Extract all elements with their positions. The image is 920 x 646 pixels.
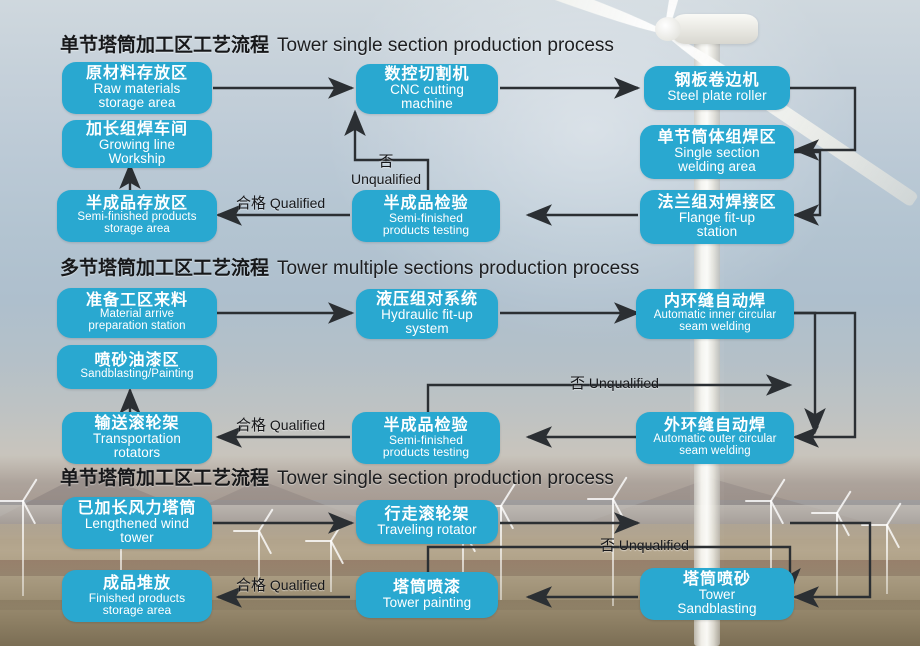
edge-label-zh: 合格 <box>236 417 266 434</box>
node-en-line2: Sandblasting <box>677 602 756 616</box>
edge-label-zh: 合格 <box>236 577 266 594</box>
node-lengthened-wind-tower[interactable]: 已加长风力塔筒 Lengthened wind tower <box>62 497 212 549</box>
edge-label-en: Unqualified <box>341 171 431 187</box>
node-flange-fit-up-station[interactable]: 法兰组对焊接区 Flange fit-up station <box>640 190 794 244</box>
edge-label-unqualified-1: 否 Unqualified <box>341 150 431 187</box>
edge-label-zh: 合格 <box>236 195 266 212</box>
edge-label-en: Qualified <box>270 417 325 433</box>
section-title-3-zh: 单节塔筒加工区工艺流程 <box>60 468 269 489</box>
node-en-line2: machine <box>401 97 453 111</box>
node-tower-painting[interactable]: 塔筒喷漆 Tower painting <box>356 572 498 618</box>
node-zh: 半成品检验 <box>383 196 468 212</box>
node-en-line2: rotators <box>114 446 161 460</box>
node-en-line2: storage area <box>103 604 172 616</box>
node-zh: 准备工区来料 <box>86 293 188 309</box>
node-traveling-rotator[interactable]: 行走滚轮架 Traveling rotator <box>356 500 498 544</box>
node-en-line1: Traveling rotator <box>377 523 477 537</box>
node-transportation-rotators[interactable]: 输送滚轮架 Transportation rotators <box>62 412 212 464</box>
node-en-line1: Growing line <box>99 138 175 152</box>
edge-label-zh: 否 <box>341 150 431 171</box>
node-en-line1: Single section <box>674 146 759 160</box>
node-en-line1: CNC cutting <box>390 83 464 97</box>
node-tower-sandblasting[interactable]: 塔筒喷砂 Tower Sandblasting <box>640 568 794 620</box>
node-en-line2: Workship <box>109 152 166 166</box>
node-zh: 行走滚轮架 <box>384 507 469 523</box>
node-zh: 单节筒体组焊区 <box>657 130 776 146</box>
node-cnc-cutting-machine[interactable]: 数控切割机 CNC cutting machine <box>356 64 498 114</box>
node-en-line1: Transportation <box>93 432 181 446</box>
node-en-line2: welding area <box>678 160 756 174</box>
node-zh: 成品堆放 <box>103 576 171 592</box>
node-en-line1: Tower painting <box>383 596 471 610</box>
node-en-line2: seam welding <box>679 322 751 334</box>
node-en-line1: Sandblasting/Painting <box>80 369 193 381</box>
node-growing-line-workship[interactable]: 加长组焊车间 Growing line Workship <box>62 120 212 168</box>
node-zh: 半成品存放区 <box>86 196 188 212</box>
flow-content: 单节塔筒加工区工艺流程Tower single section producti… <box>0 0 920 646</box>
node-single-section-welding-area[interactable]: 单节筒体组焊区 Single section welding area <box>640 125 794 179</box>
node-automatic-outer-circular-seam-welding[interactable]: 外环缝自动焊 Automatic outer circular seam wel… <box>636 412 794 464</box>
node-hydraulic-fit-up-system[interactable]: 液压组对系统 Hydraulic fit-up system <box>356 289 498 339</box>
edge-label-zh: 否 <box>600 537 615 554</box>
node-zh: 液压组对系统 <box>376 292 478 308</box>
section-title-3-en: Tower single section production process <box>277 468 614 489</box>
edge-label-en: Qualified <box>270 195 325 211</box>
node-zh: 加长组焊车间 <box>86 122 188 138</box>
node-en-line2: tower <box>120 531 154 545</box>
node-en-line2: storage area <box>104 224 170 236</box>
node-steel-plate-roller[interactable]: 钢板卷边机 Steel plate roller <box>644 66 790 110</box>
node-zh: 塔筒喷漆 <box>393 580 461 596</box>
node-zh: 输送滚轮架 <box>94 416 179 432</box>
node-en-line1: Hydraulic fit-up <box>381 308 473 322</box>
section-title-2-zh: 多节塔筒加工区工艺流程 <box>60 258 269 279</box>
node-finished-products-storage-area[interactable]: 成品堆放 Finished products storage area <box>62 570 212 622</box>
node-semi-finished-products-testing[interactable]: 半成品检验 Semi-finished products testing <box>352 190 500 242</box>
node-en-line2: seam welding <box>679 446 751 458</box>
node-en-line1: Flange fit-up <box>679 211 755 225</box>
node-en-line2: products testing <box>383 224 469 236</box>
node-en-line2: products testing <box>383 446 469 458</box>
node-automatic-inner-circular-seam-welding[interactable]: 内环缝自动焊 Automatic inner circular seam wel… <box>636 289 794 339</box>
node-en-line1: Lengthened wind <box>85 517 189 531</box>
section-title-2: 多节塔筒加工区工艺流程Tower multiple sections produ… <box>60 253 639 280</box>
node-zh: 塔筒喷砂 <box>683 572 751 588</box>
edge-label-en: Unqualified <box>589 375 659 391</box>
node-zh: 法兰组对焊接区 <box>657 195 776 211</box>
node-sandblasting-painting[interactable]: 喷砂油漆区 Sandblasting/Painting <box>57 345 217 389</box>
node-semi-finished-products-storage-area[interactable]: 半成品存放区 Semi-finished products storage ar… <box>57 190 217 242</box>
section-title-3: 单节塔筒加工区工艺流程Tower single section producti… <box>60 463 614 490</box>
node-en-line2: storage area <box>99 96 176 110</box>
edge-label-en: Unqualified <box>619 537 689 553</box>
section-title-1-en: Tower single section production process <box>277 35 614 56</box>
node-en-line2: preparation station <box>88 321 185 333</box>
node-en-line1: Tower <box>699 588 736 602</box>
node-en-line1: Steel plate roller <box>667 89 766 103</box>
edge-label-qualified-2: 合格 Qualified <box>236 414 325 435</box>
node-en-line2: system <box>405 322 448 336</box>
section-title-2-en: Tower multiple sections production proce… <box>277 258 639 279</box>
edge-label-qualified-3: 合格 Qualified <box>236 574 325 595</box>
node-zh: 喷砂油漆区 <box>94 353 179 369</box>
edge-label-unqualified-2: 否 Unqualified <box>570 372 659 393</box>
section-title-1-zh: 单节塔筒加工区工艺流程 <box>60 35 269 56</box>
node-en-line2: station <box>697 225 737 239</box>
process-flow-poster: 单节塔筒加工区工艺流程Tower single section producti… <box>0 0 920 646</box>
node-zh: 钢板卷边机 <box>674 73 759 89</box>
edge-label-qualified-1: 合格 Qualified <box>236 192 325 213</box>
edge-label-zh: 否 <box>570 375 585 392</box>
node-raw-materials-storage-area[interactable]: 原材料存放区 Raw materials storage area <box>62 62 212 114</box>
node-zh: 半成品检验 <box>383 418 468 434</box>
node-zh: 外环缝自动焊 <box>664 418 766 434</box>
node-zh: 已加长风力塔筒 <box>77 501 196 517</box>
edge-label-unqualified-3: 否 Unqualified <box>600 534 689 555</box>
edge-label-en: Qualified <box>270 577 325 593</box>
node-zh: 内环缝自动焊 <box>664 294 766 310</box>
node-semi-finished-products-testing-2[interactable]: 半成品检验 Semi-finished products testing <box>352 412 500 464</box>
node-en-line1: Raw materials <box>94 82 181 96</box>
node-zh: 数控切割机 <box>384 67 469 83</box>
node-zh: 原材料存放区 <box>86 66 188 82</box>
section-title-1: 单节塔筒加工区工艺流程Tower single section producti… <box>60 30 614 57</box>
node-material-arrive-preparation-station[interactable]: 准备工区来料 Material arrive preparation stati… <box>57 288 217 338</box>
